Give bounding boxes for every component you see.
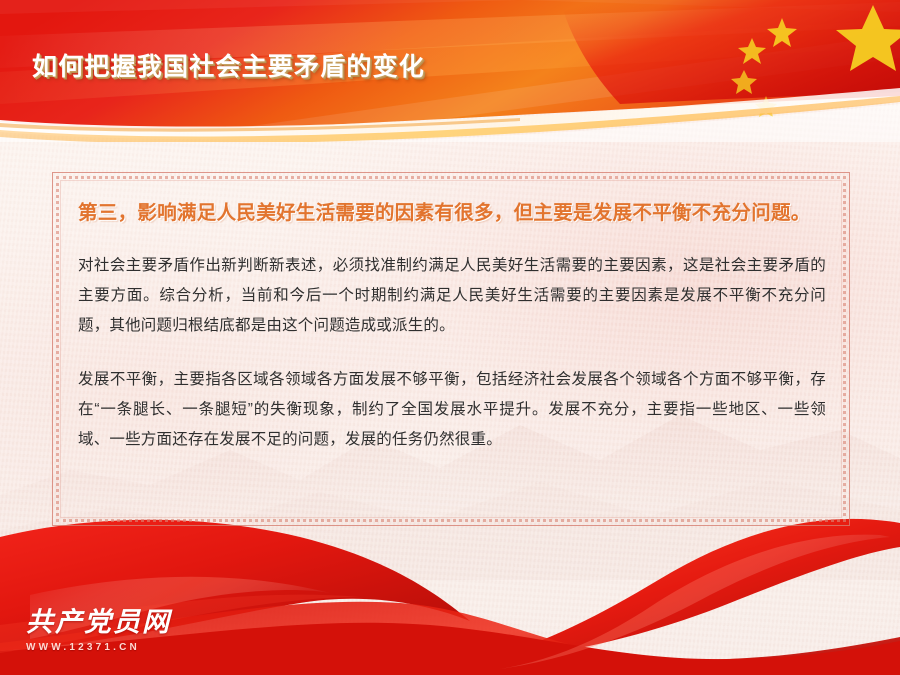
logo-wordmark: 共产党员网 bbox=[26, 609, 171, 636]
slide-root: 如何把握我国社会主要矛盾的变化 第三，影响满足人民美好生活需要的因素有很多，但主… bbox=[0, 0, 900, 675]
content-area: 第三，影响满足人民美好生活需要的因素有很多，但主要是发展不平衡不充分问题。 对社… bbox=[78, 198, 826, 455]
body-paragraph-2: 发展不平衡，主要指各区域各领域各方面发展不够平衡，包括经济社会发展各个领域各个方… bbox=[78, 365, 826, 455]
body-paragraph-1: 对社会主要矛盾作出新判断新表述，必须找准制约满足人民美好生活需要的主要因素，这是… bbox=[78, 251, 826, 341]
page-title: 如何把握我国社会主要矛盾的变化 bbox=[32, 47, 425, 83]
section-heading: 第三，影响满足人民美好生活需要的因素有很多，但主要是发展不平衡不充分问题。 bbox=[78, 198, 826, 229]
logo-url: WWW.12371.CN bbox=[26, 642, 171, 653]
site-logo: 共产党员网 WWW.12371.CN bbox=[26, 609, 171, 653]
